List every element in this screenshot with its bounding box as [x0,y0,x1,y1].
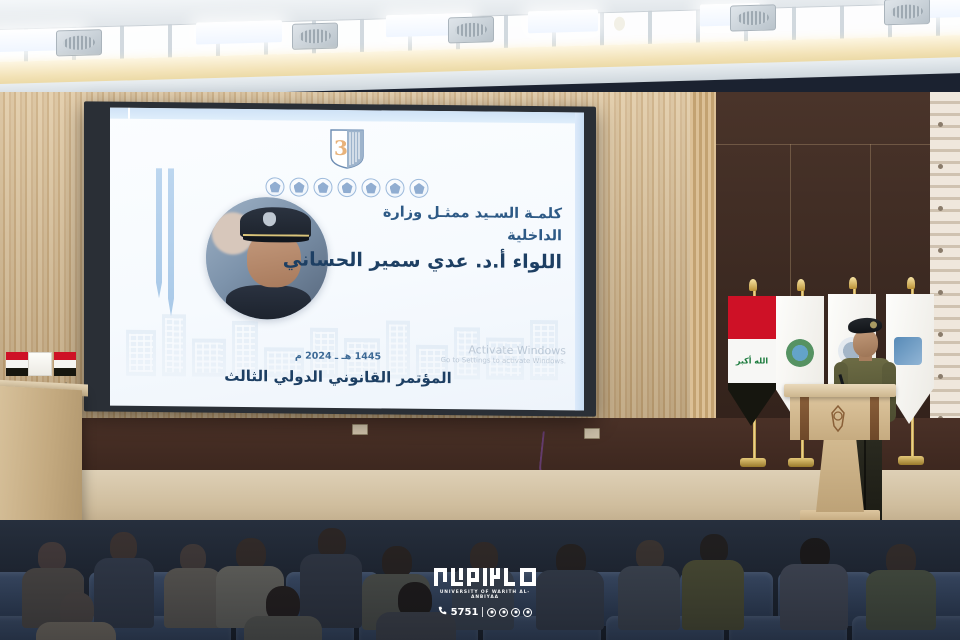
phone-icon [438,606,447,618]
ceiling-light-panel [196,20,282,44]
partner-logo-icon [290,177,309,196]
slide-subtitle-line2: الداخلية [300,223,562,247]
wall-socket [352,424,368,435]
slide-top-band [110,108,584,124]
left-podium [0,386,82,541]
attendee-body [36,622,116,640]
attendee-body [94,558,154,628]
speaker-head [853,330,878,357]
partner-logo-row [266,177,429,198]
flag-finial-icon [907,277,915,289]
youtube-icon[interactable] [523,608,532,617]
partner-logo-icon [386,178,405,197]
podium-stem [816,440,864,512]
iraq-flag-script: الله أكبر [736,357,768,366]
university-name-english: UNIVERSITY OF WARITH AL-ANBIYAA [430,590,540,600]
instagram-icon[interactable] [499,608,508,617]
flag-finial-icon [797,279,805,291]
contact-line: 5751 [430,606,540,618]
attendee-body [536,570,604,630]
shield-numeral: 3 [334,136,348,160]
university-kufic-logo-icon [430,566,540,588]
slide-subtitle-line1: كلمـة السـيد ممثـل وزارة [300,202,562,226]
main-podium [788,384,892,526]
slide-speaker-name: اللواء أ.د. عدي سمير الحساني [280,247,562,276]
ceiling [0,0,960,78]
attendee-body-officer [682,560,744,630]
ac-diffuser [730,4,776,31]
ac-diffuser [56,29,102,56]
attendee-body [866,570,936,630]
wall-socket [584,428,600,439]
wall-wood-post [690,92,718,432]
ceiling-light-panel [528,9,598,33]
university-watermark-logo: UNIVERSITY OF WARITH AL-ANBIYAA 5751 [430,566,540,618]
desk-flag [54,352,76,386]
divider [482,607,483,617]
podium-emblem [824,404,852,434]
projection-screen: 3 [84,101,596,416]
phone-number: 5751 [451,607,479,618]
attendee-body [164,568,222,628]
social-icons [487,608,532,617]
partner-logo-icon [338,178,357,197]
flag-finial-icon [849,277,857,289]
attendee-body [780,564,848,630]
slide-conference-title: المؤتمر القانوني الدولي الثالث [110,366,566,389]
podium-accent-stripe [800,396,809,440]
attendee-body [618,566,680,630]
slide-accent-stripe [156,168,162,298]
ac-diffuser [292,23,338,50]
podium-top [784,384,896,397]
podium-accent-stripe [870,396,879,440]
partner-logo-icon [314,178,333,197]
conference-shield-logo: 3 [330,129,364,169]
ac-diffuser [448,16,494,43]
partner-logo-icon [362,178,381,197]
flag-iraq: الله أكبر [726,288,780,463]
telegram-icon[interactable] [511,608,520,617]
slide-subtitle: كلمـة السـيد ممثـل وزارة الداخلية [300,202,562,248]
ac-diffuser [884,0,930,25]
partner-logo-icon [410,179,429,198]
presentation-slide: 3 [110,108,584,411]
attendee-body [244,616,322,640]
conference-hall-photo: 3 [0,0,960,640]
beret-icon [848,317,883,334]
partner-logo-icon [266,177,285,196]
flag-finial-icon [749,279,757,291]
facebook-icon[interactable] [487,608,496,617]
